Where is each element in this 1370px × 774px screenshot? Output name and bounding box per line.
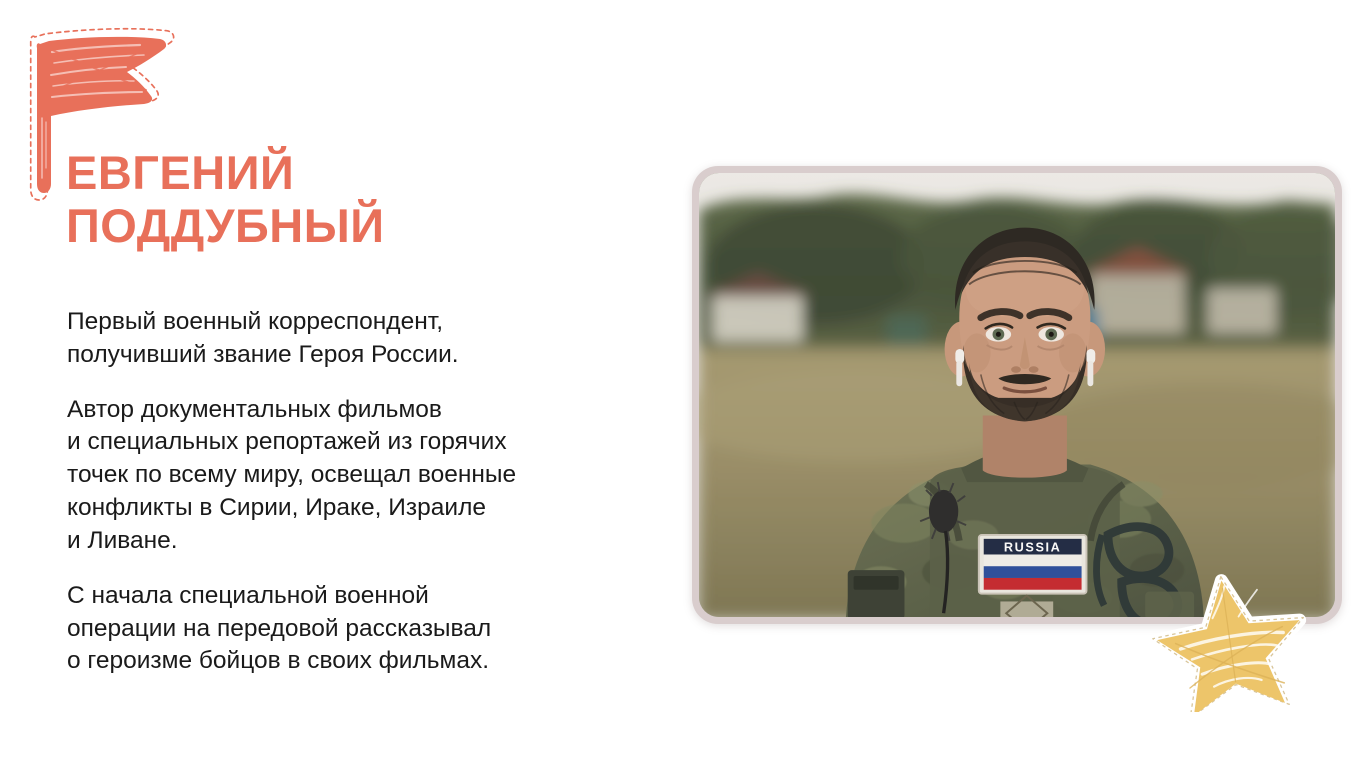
page-title: ЕВГЕНИЙ ПОДДУБНЫЙ (66, 146, 626, 252)
bio-paragraph: С начала специальной военной операции на… (67, 580, 637, 678)
bio-paragraph: Первый военный корреспондент, получивший… (67, 306, 637, 372)
bio-text-block: Первый военный корреспондент, получивший… (67, 306, 637, 678)
bio-paragraph: Автор документальных фильмов и специальн… (67, 394, 637, 558)
slide-canvas: ЕВГЕНИЙ ПОДДУБНЫЙ Первый военный корресп… (0, 0, 1370, 774)
portrait-photo: RUSSIA (699, 173, 1335, 617)
portrait-photo-card: RUSSIA (692, 166, 1342, 624)
left-content-column: ЕВГЕНИЙ ПОДДУБНЫЙ Первый военный корресп… (0, 0, 660, 774)
